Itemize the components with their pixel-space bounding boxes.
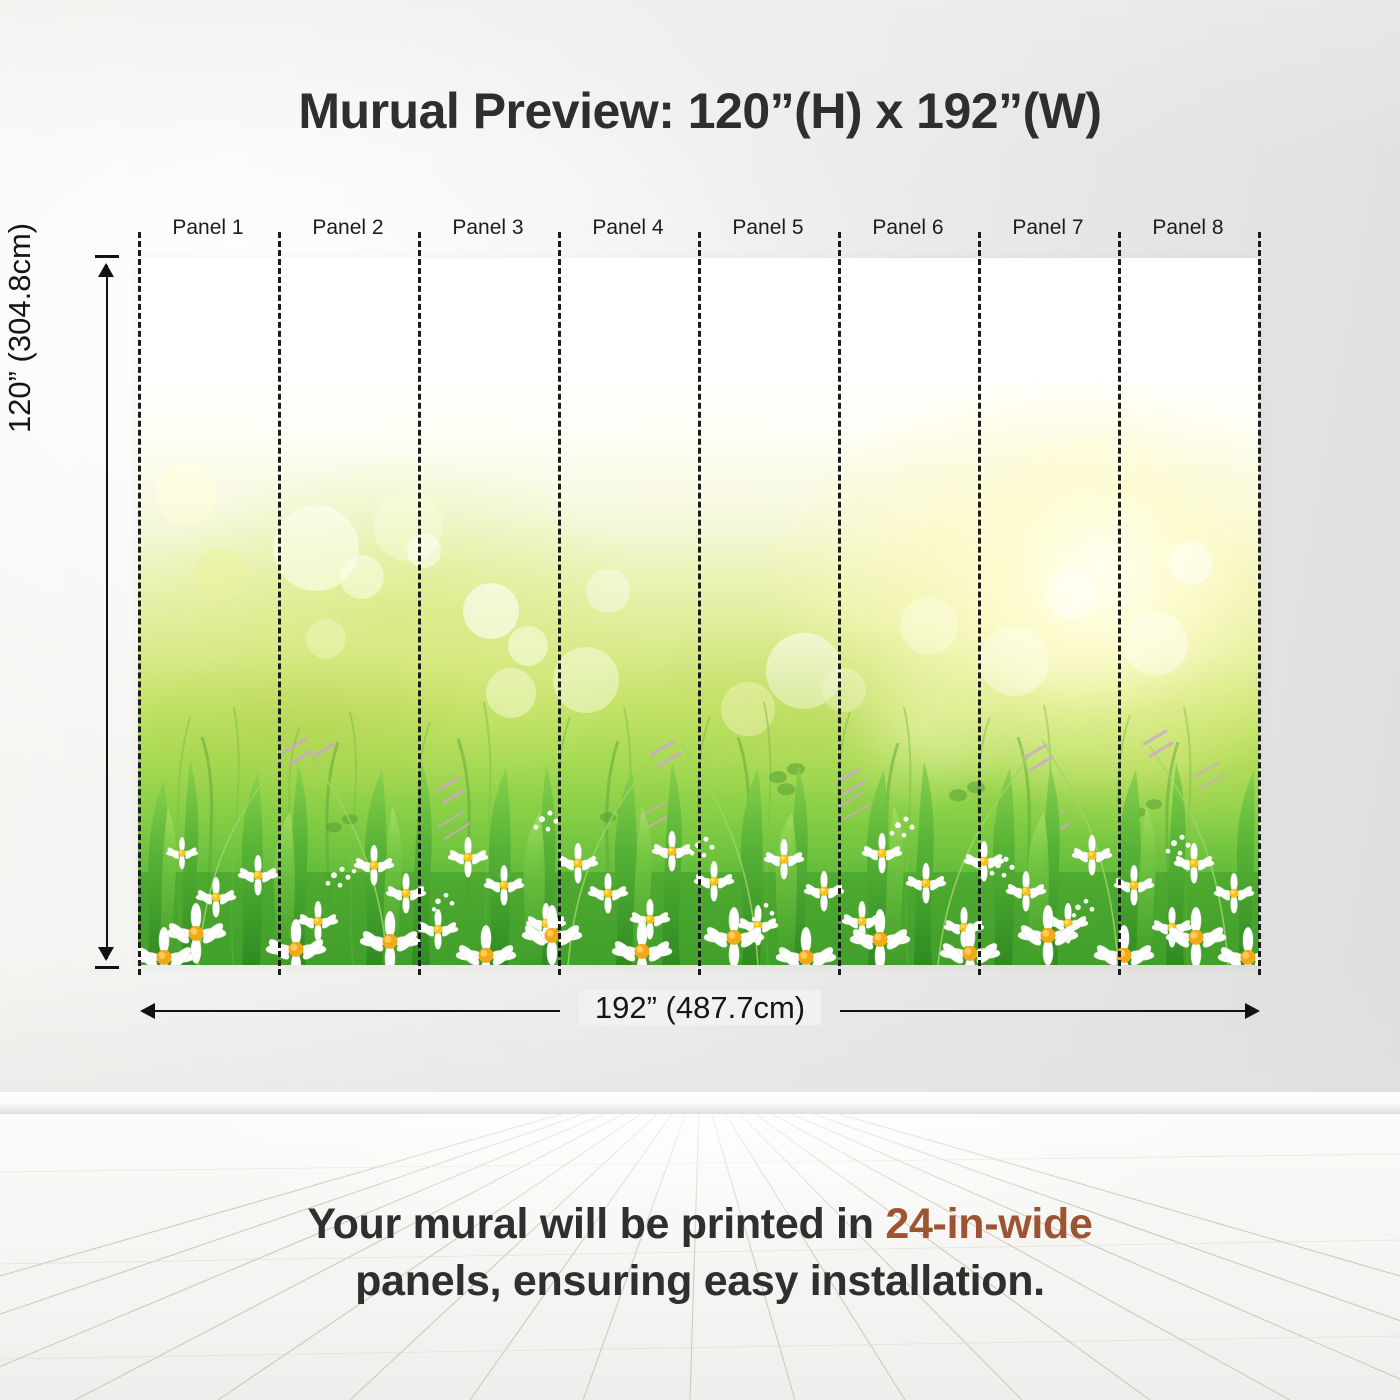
panel-divider-8 xyxy=(1258,232,1261,975)
mural-preview-area xyxy=(138,258,1259,965)
panel-label-4: Panel 4 xyxy=(558,216,698,240)
installation-caption: Your mural will be printed in 24-in-wide… xyxy=(0,1196,1400,1310)
panel-label-5: Panel 5 xyxy=(698,216,838,240)
panel-divider-7 xyxy=(1118,232,1121,975)
panel-divider-4 xyxy=(698,232,701,975)
panel-divider-2 xyxy=(418,232,421,975)
panel-label-8: Panel 8 xyxy=(1118,216,1258,240)
panel-divider-3 xyxy=(558,232,561,975)
mural-preview-scene: Murual Preview: 120”(H) x 192”(W) xyxy=(0,0,1400,1400)
panel-label-1: Panel 1 xyxy=(138,216,278,240)
height-cap-bottom xyxy=(95,966,119,969)
height-dimension-line xyxy=(106,265,108,959)
width-dimension-label-wrap: 192” (487.7cm) xyxy=(140,990,1260,1026)
panel-label-7: Panel 7 xyxy=(978,216,1118,240)
height-arrow-bottom xyxy=(98,947,114,961)
panel-label-3: Panel 3 xyxy=(418,216,558,240)
caption-line-2: panels, ensuring easy installation. xyxy=(0,1253,1400,1310)
width-dimension: 192” (487.7cm) xyxy=(140,996,1260,1028)
height-dimension-label: 120” (304.8cm) xyxy=(2,148,38,508)
baseboard xyxy=(0,1092,1400,1116)
panel-divider-0 xyxy=(138,232,141,975)
height-dimension xyxy=(84,255,130,969)
panel-divider-6 xyxy=(978,232,981,975)
width-dimension-label: 192” (487.7cm) xyxy=(579,990,821,1025)
caption-accent-panel-width: 24-in-wide xyxy=(885,1200,1092,1248)
caption-line-1: Your mural will be printed in 24-in-wide xyxy=(0,1196,1400,1253)
height-cap-top xyxy=(95,255,119,258)
panel-divider-1 xyxy=(278,232,281,975)
caption-line-1-before: Your mural will be printed in xyxy=(307,1200,885,1248)
page-title: Murual Preview: 120”(H) x 192”(W) xyxy=(0,82,1400,140)
panel-divider-5 xyxy=(838,232,841,975)
panel-label-6: Panel 6 xyxy=(838,216,978,240)
panel-label-2: Panel 2 xyxy=(278,216,418,240)
